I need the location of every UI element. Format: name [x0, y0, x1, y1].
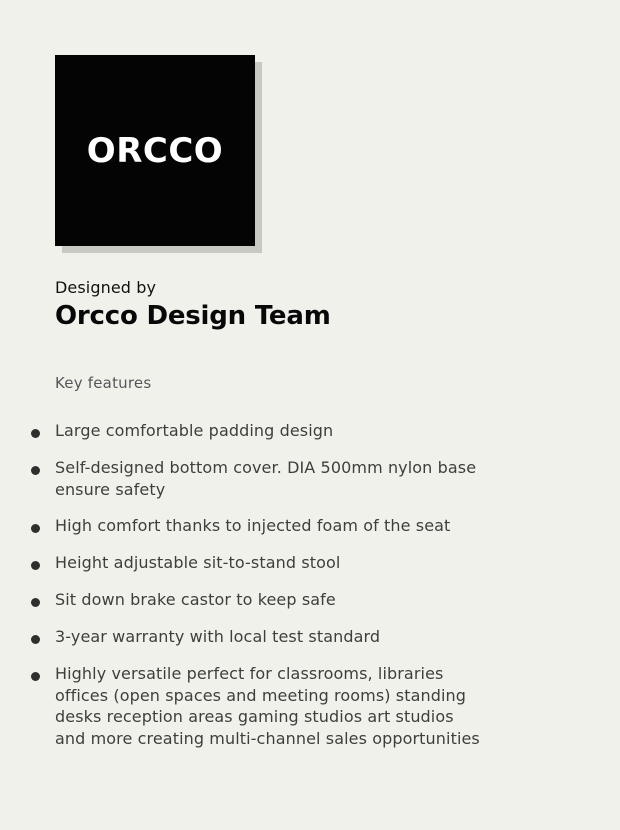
list-item: Height adjustable sit-to-stand stool — [26, 552, 601, 574]
designer-name: Orcco Design Team — [55, 300, 575, 333]
list-item: Highly versatile perfect for classrooms,… — [26, 663, 601, 749]
designer-credit: Designed by Orcco Design Team — [55, 277, 575, 332]
brand-logo: ORCCO — [55, 55, 255, 246]
list-item: 3-year warranty with local test standard — [26, 626, 601, 648]
key-features-heading: Key features — [55, 374, 151, 392]
bullet-icon — [31, 672, 40, 681]
bullet-icon — [31, 429, 40, 438]
list-item-label: High comfort thanks to injected foam of … — [55, 515, 601, 537]
bullet-icon — [31, 635, 40, 644]
list-item-label: 3-year warranty with local test standard — [55, 626, 601, 648]
list-item-label: Height adjustable sit-to-stand stool — [55, 552, 601, 574]
list-item-label: Self-designed bottom cover. DIA 500mm ny… — [55, 457, 601, 500]
list-item-label: Large comfortable padding design — [55, 420, 601, 442]
list-item-label: Highly versatile perfect for classrooms,… — [55, 663, 601, 749]
logo-square: ORCCO — [55, 55, 255, 246]
list-item: Large comfortable padding design — [26, 420, 601, 442]
list-item: High comfort thanks to injected foam of … — [26, 515, 601, 537]
logo-wordmark: ORCCO — [87, 134, 223, 168]
key-features-list: Large comfortable padding design Self-de… — [26, 420, 601, 764]
bullet-icon — [31, 466, 40, 475]
list-item: Self-designed bottom cover. DIA 500mm ny… — [26, 457, 601, 500]
list-item: Sit down brake castor to keep safe — [26, 589, 601, 611]
bullet-icon — [31, 598, 40, 607]
list-item-label: Sit down brake castor to keep safe — [55, 589, 601, 611]
bullet-icon — [31, 524, 40, 533]
product-feature-slide: ORCCO Designed by Orcco Design Team Key … — [0, 0, 620, 830]
designed-by-label: Designed by — [55, 277, 575, 299]
bullet-icon — [31, 561, 40, 570]
